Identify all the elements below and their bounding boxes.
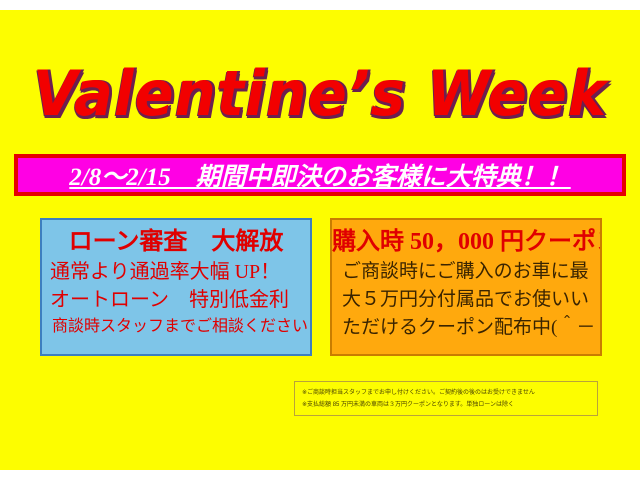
campaign-period-banner: 2/8〜2/15 期間中即決のお客様に大特典！！ xyxy=(14,154,626,196)
loan-box-line-2: オートローン 特別低金利 xyxy=(42,286,310,314)
coupon-box-line-1: ご商談時にご購入のお車に最 xyxy=(332,258,600,286)
fine-print-line-1: ※ご商談時担当スタッフまでお申し付けください。ご契約後の後のはお受けできません xyxy=(302,387,590,399)
fine-print-box: ※ご商談時担当スタッフまでお申し付けください。ご契約後の後のはお受けできません … xyxy=(294,381,598,416)
page-title: Valentine’s Week xyxy=(22,58,617,130)
poster-background: Valentine’s Week 2/8〜2/15 期間中即決のお客様に大特典！… xyxy=(0,10,640,470)
campaign-period-text: 2/8〜2/15 期間中即決のお客様に大特典！！ xyxy=(18,158,622,192)
fine-print-line-2: ※支払総額 85 万円未満の車両は３万円クーポンとなります。単独ローンは除く xyxy=(302,399,590,411)
loan-box-heading: ローン審査 大解放 xyxy=(42,226,310,258)
coupon-box-heading: 購入時 50，000 円クーポン xyxy=(332,226,600,258)
loan-box-note: 商談時スタッフまでご相談ください xyxy=(42,314,310,340)
coupon-box-line-3: ただけるクーポン配布中(＾－＾) xyxy=(332,314,600,342)
title-container: Valentine’s Week xyxy=(0,58,640,136)
loan-screening-box: ローン審査 大解放 通常より通過率大幅 UP！ オートローン 特別低金利 商談時… xyxy=(40,218,312,356)
coupon-box-line-2: 大５万円分付属品でお使いい xyxy=(332,286,600,314)
loan-box-line-1: 通常より通過率大幅 UP！ xyxy=(42,258,310,286)
coupon-box: 購入時 50，000 円クーポン ご商談時にご購入のお車に最 大５万円分付属品で… xyxy=(330,218,602,356)
